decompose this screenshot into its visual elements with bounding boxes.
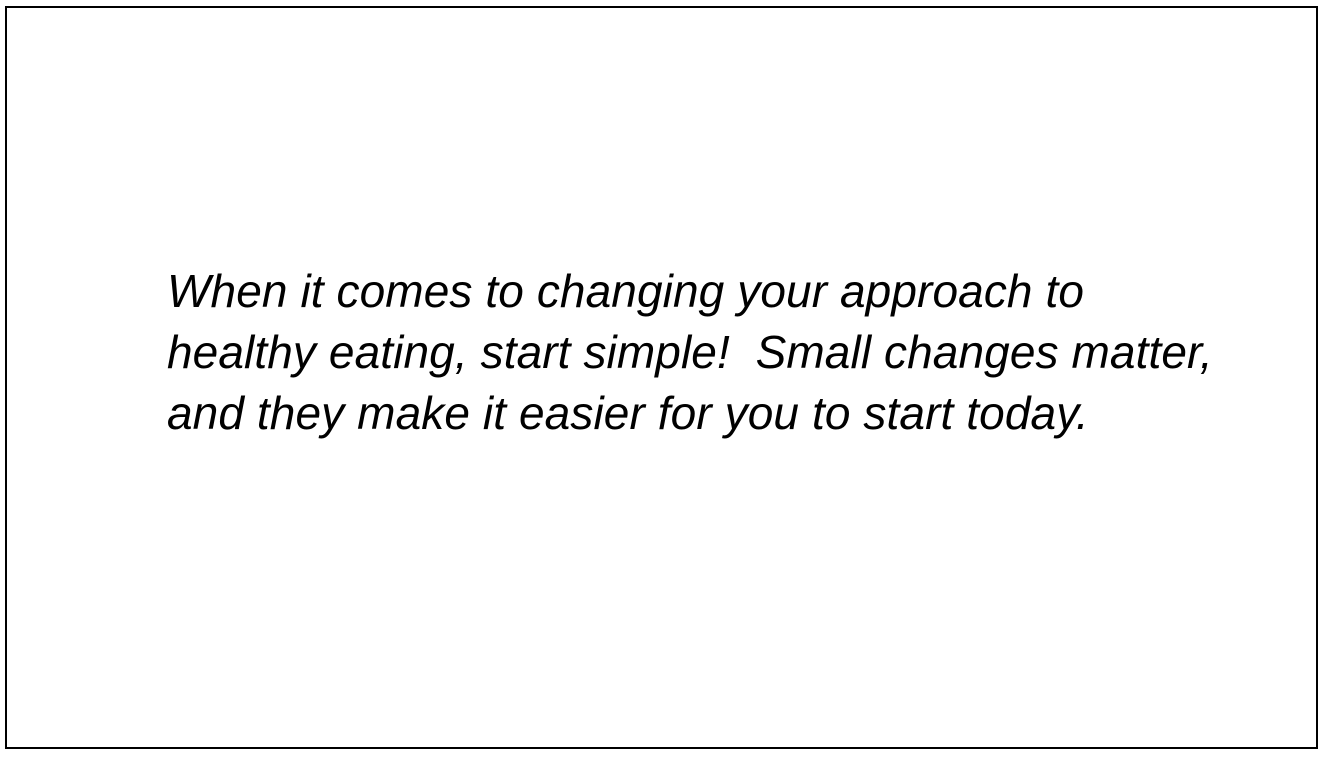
quote-line-2: healthy eating, start simple! Small chan… (167, 322, 1197, 383)
quote-line-3: and they make it easier for you to start… (167, 383, 1197, 444)
quote-line-1: When it comes to changing your approach … (167, 261, 1197, 322)
quote-text-block: When it comes to changing your approach … (167, 261, 1197, 444)
slide-border-frame: When it comes to changing your approach … (5, 6, 1318, 749)
slide-canvas: When it comes to changing your approach … (0, 0, 1324, 759)
